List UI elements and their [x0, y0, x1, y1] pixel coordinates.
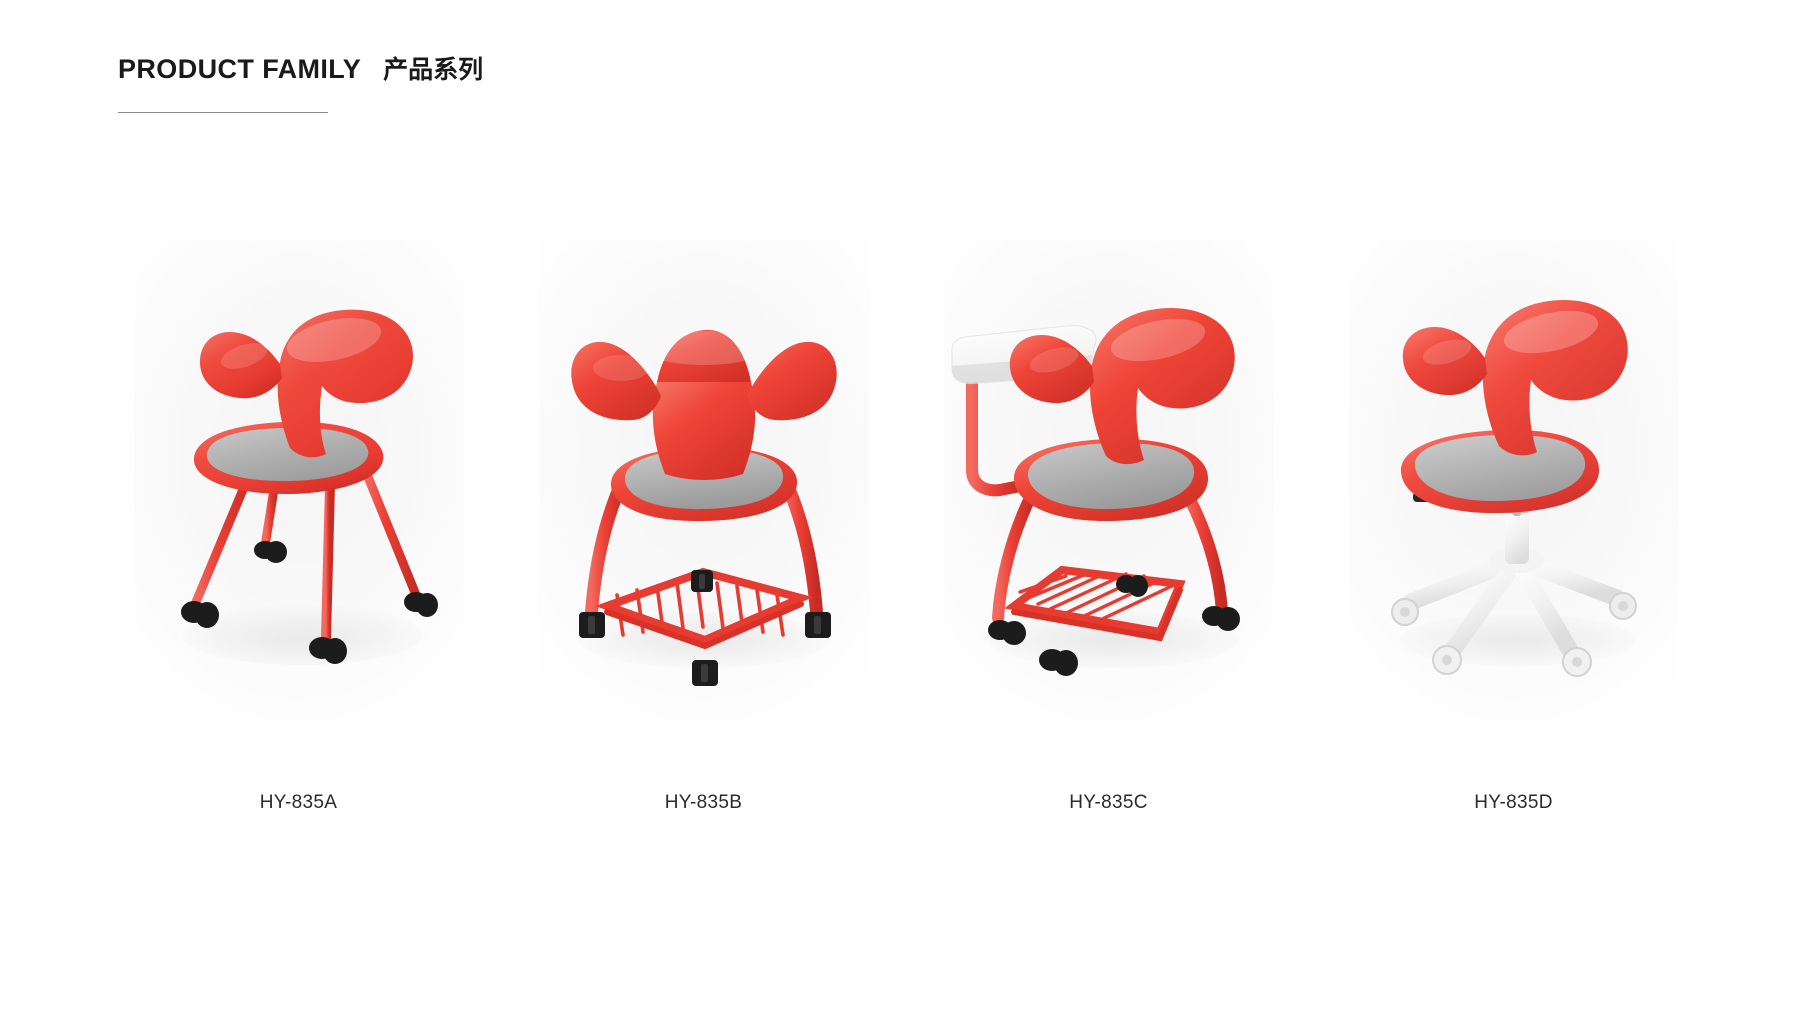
product-card-hy-835c[interactable]: HY-835C [906, 240, 1311, 860]
product-photo-hy-835d [1349, 240, 1679, 770]
product-photo-hy-835b [539, 240, 869, 770]
page-header: PRODUCT FAMILY 产品系列 [118, 50, 483, 86]
product-photo-hy-835a [134, 240, 464, 770]
product-card-hy-835d[interactable]: HY-835D [1311, 240, 1716, 860]
product-card-hy-835a[interactable]: HY-835A [96, 240, 501, 860]
page-title: PRODUCT FAMILY 产品系列 [118, 50, 483, 86]
gas-lift-cylinder [1505, 510, 1529, 564]
product-grid: HY-835A [96, 240, 1716, 860]
page-title-cn: 产品系列 [383, 50, 483, 86]
product-stage-d [1349, 240, 1679, 770]
product-stage-b [539, 240, 869, 770]
page-title-en: PRODUCT FAMILY [118, 54, 361, 85]
product-caption: HY-835B [665, 792, 742, 814]
title-divider-rule [118, 112, 328, 113]
product-caption: HY-835D [1474, 792, 1553, 814]
product-family-page: PRODUCT FAMILY 产品系列 [0, 0, 1800, 1013]
product-stage-c [944, 240, 1274, 770]
product-stage-a [134, 240, 464, 770]
product-caption: HY-835A [260, 792, 337, 814]
product-photo-hy-835c [944, 240, 1274, 770]
product-caption: HY-835C [1069, 792, 1148, 814]
product-card-hy-835b[interactable]: HY-835B [501, 240, 906, 860]
